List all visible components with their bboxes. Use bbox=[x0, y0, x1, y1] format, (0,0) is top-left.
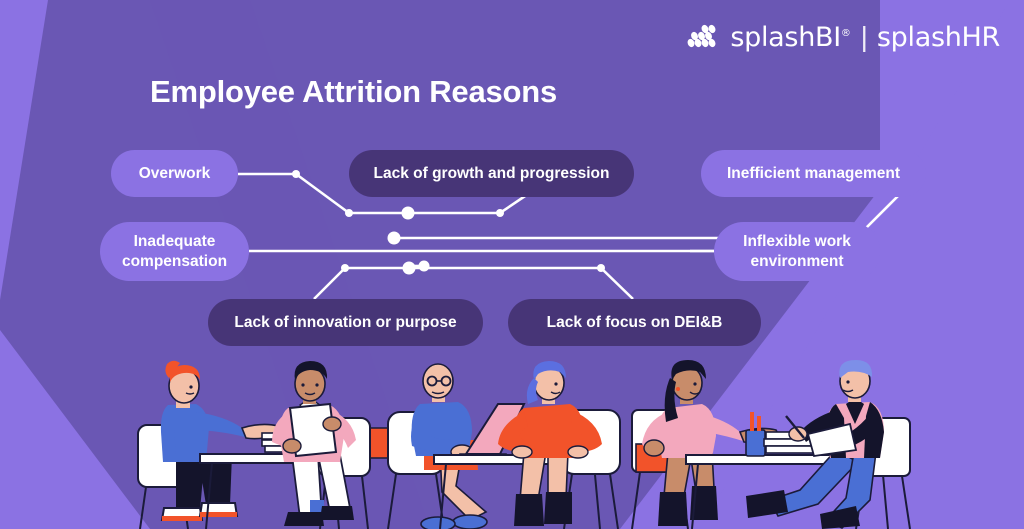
infographic-canvas: splashBI® | splashHR Employee Attrition … bbox=[0, 0, 1024, 529]
illustration-group-middle bbox=[388, 361, 620, 529]
office-workers-meeting-illustration bbox=[0, 0, 1024, 529]
illustration-group-right bbox=[632, 360, 910, 529]
person-orange-sweater-blue-hair bbox=[498, 361, 602, 526]
illustration-group-left bbox=[138, 361, 396, 529]
pencil-holder-right bbox=[746, 412, 765, 456]
